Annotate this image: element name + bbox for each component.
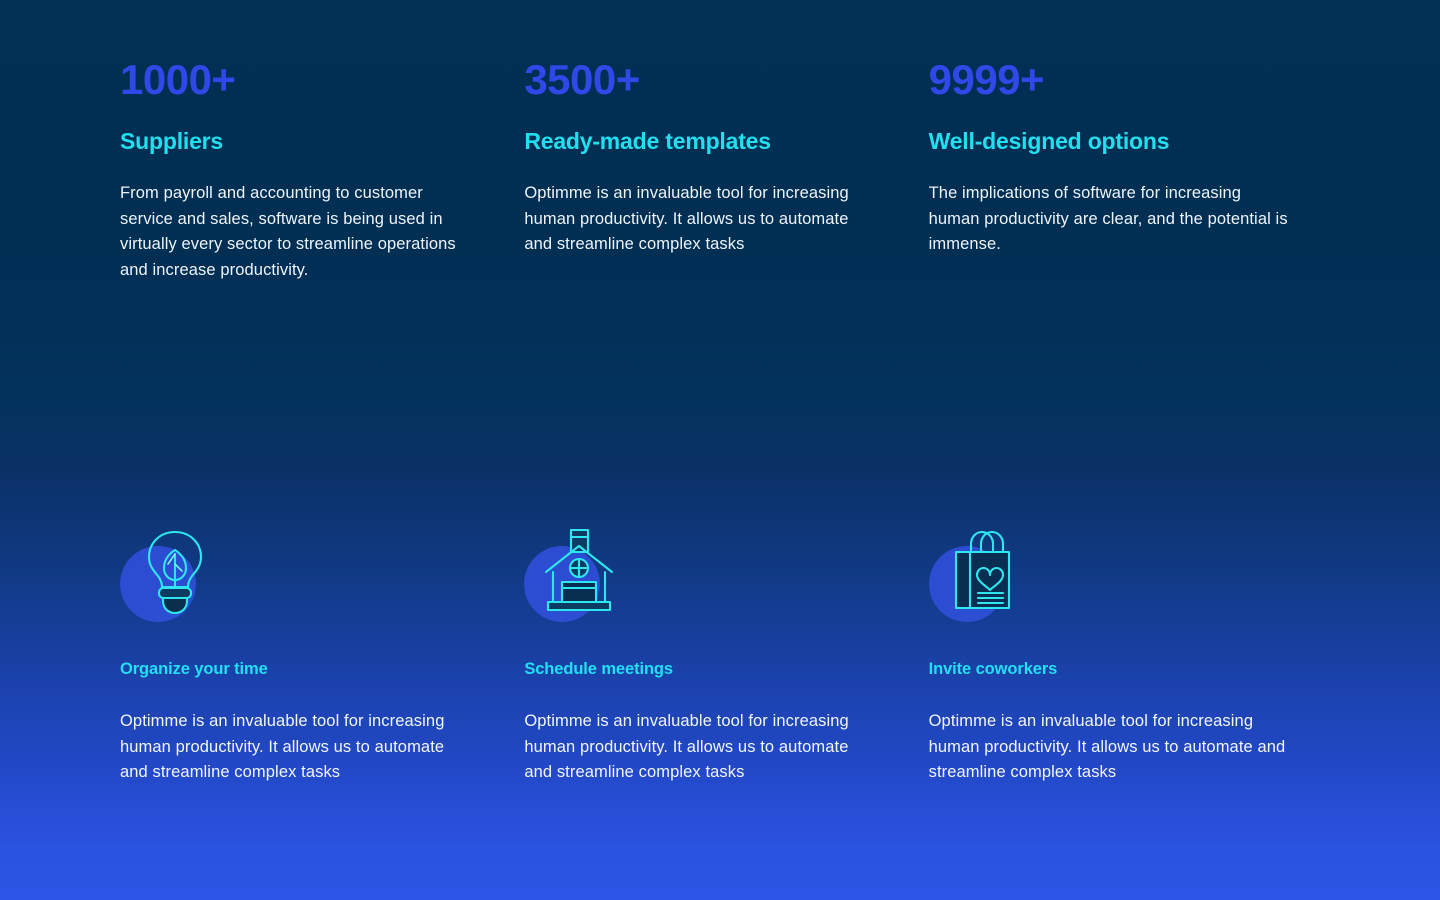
stats-section: 1000+ Suppliers From payroll and account…	[120, 58, 1330, 284]
feature-body: Optimme is an invaluable tool for increa…	[120, 709, 464, 786]
feature-heading: Invite coworkers	[929, 660, 1330, 679]
feature-card-schedule-meetings: Schedule meetings Optimme is an invaluab…	[524, 528, 928, 786]
stat-number: 9999+	[929, 58, 1330, 102]
stat-card-templates: 3500+ Ready-made templates Optimme is an…	[524, 58, 928, 284]
stat-body: From payroll and accounting to customer …	[120, 181, 464, 285]
stat-number: 3500+	[524, 58, 868, 102]
stat-number: 1000+	[120, 58, 464, 102]
feature-body: Optimme is an invaluable tool for increa…	[524, 709, 868, 786]
feature-heading: Organize your time	[120, 660, 464, 679]
stat-body: Optimme is an invaluable tool for increa…	[524, 181, 868, 259]
feature-card-invite-coworkers: Invite coworkers Optimme is an invaluabl…	[929, 528, 1330, 786]
feature-card-organize-your-time: Organize your time Optimme is an invalua…	[120, 528, 524, 786]
schoolhouse-icon	[524, 528, 628, 632]
feature-body: Optimme is an invaluable tool for increa…	[929, 709, 1291, 786]
features-section: Organize your time Optimme is an invalua…	[120, 528, 1330, 786]
stat-heading: Ready-made templates	[524, 128, 868, 156]
stat-card-suppliers: 1000+ Suppliers From payroll and account…	[120, 58, 524, 284]
shopping-bag-heart-icon	[929, 528, 1033, 632]
stat-card-options: 9999+ Well-designed options The implicat…	[929, 58, 1330, 284]
stat-body: The implications of software for increas…	[929, 181, 1291, 259]
stat-heading: Well-designed options	[929, 128, 1330, 156]
lightbulb-leaf-icon	[120, 528, 224, 632]
stat-heading: Suppliers	[120, 128, 464, 156]
feature-heading: Schedule meetings	[524, 660, 868, 679]
page-root: 1000+ Suppliers From payroll and account…	[0, 0, 1440, 900]
